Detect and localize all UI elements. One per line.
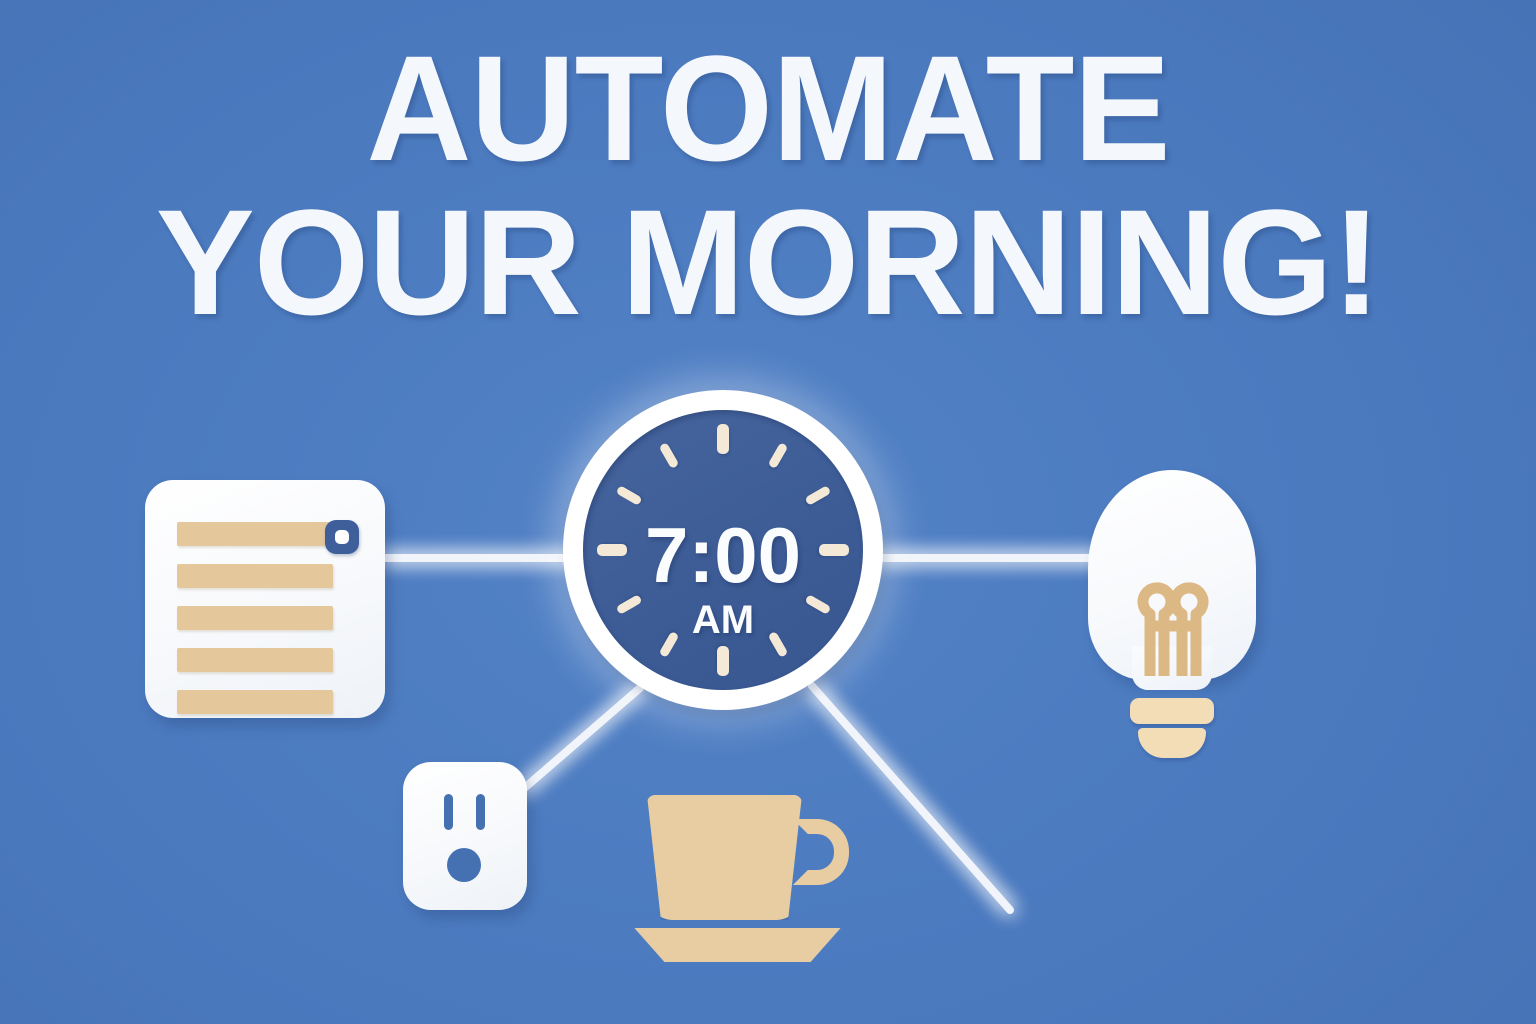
clock-meridiem-label: AM	[583, 600, 863, 640]
bulb-filament-icon	[1134, 574, 1212, 676]
clock-time-label: 7:00	[583, 516, 863, 594]
blinds-slat	[177, 690, 333, 714]
smart-plug-outlet[interactable]	[403, 762, 527, 910]
clock-tick	[717, 424, 729, 454]
blinds-slat	[177, 606, 333, 630]
clock-tick	[767, 442, 788, 469]
smart-light-bulb[interactable]	[1088, 470, 1268, 760]
bulb-base-cap	[1138, 728, 1206, 758]
page-title: AUTOMATE YOUR MORNING!	[0, 36, 1536, 335]
clock-face: 7:00 AM	[583, 410, 863, 690]
coffee-cup[interactable]	[625, 795, 850, 970]
bulb-base-ring	[1130, 698, 1214, 724]
poster-canvas: AUTOMATE YOUR MORNING!	[0, 0, 1536, 1024]
outlet-slot-right	[476, 794, 485, 830]
cup-handle	[793, 819, 849, 885]
clock-tick	[658, 442, 679, 469]
clock-tick	[717, 646, 729, 676]
connector-clock-to-outlet	[521, 688, 640, 791]
blinds-slat	[177, 522, 333, 546]
blinds-slat	[177, 648, 333, 672]
cup-body	[647, 795, 802, 920]
clock-tick	[615, 485, 642, 506]
alarm-clock[interactable]: 7:00 AM	[563, 390, 883, 710]
outlet-ground-pin	[447, 848, 481, 882]
blinds-slat	[177, 564, 333, 588]
headline-line-2: YOUR MORNING!	[8, 190, 1529, 336]
headline-line-1: AUTOMATE	[23, 36, 1513, 182]
blinds-control-button[interactable]	[325, 520, 359, 554]
outlet-slot-left	[444, 794, 453, 830]
clock-tick	[804, 485, 831, 506]
smart-blinds-card[interactable]	[145, 480, 385, 718]
cup-saucer	[630, 928, 845, 962]
